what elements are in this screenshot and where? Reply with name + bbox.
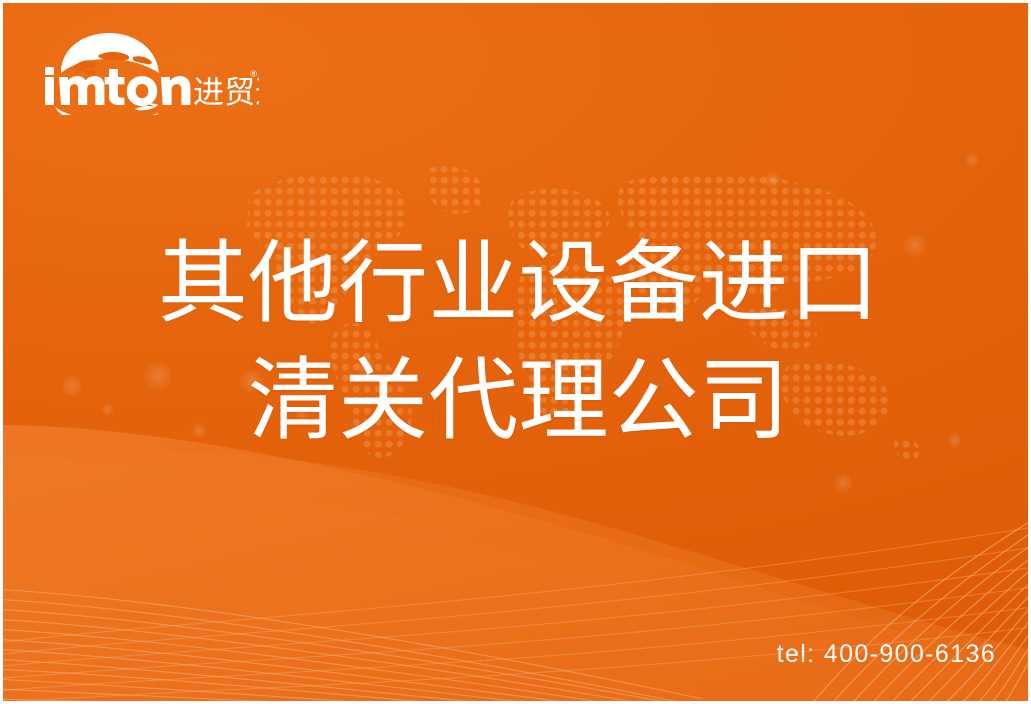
- promo-banner: 进贸通 ® 其他行业设备进口 清关代理公司 tel: 400-900-6136: [0, 0, 1031, 704]
- headline-line-2: 清关代理公司: [3, 342, 1031, 459]
- globe-arc-icon: [61, 33, 159, 74]
- headline-line-1: 其他行业设备进口: [3, 225, 1031, 342]
- imton-logo[interactable]: 进贸通 ®: [39, 29, 259, 115]
- logo-wordmark-chinese: 进贸通: [193, 75, 259, 111]
- logo-wordmark-latin: [45, 67, 190, 106]
- contact-telephone[interactable]: tel: 400-900-6136: [777, 640, 996, 669]
- trademark-icon: ®: [249, 70, 258, 80]
- page-title: 其他行业设备进口 清关代理公司: [3, 225, 1031, 459]
